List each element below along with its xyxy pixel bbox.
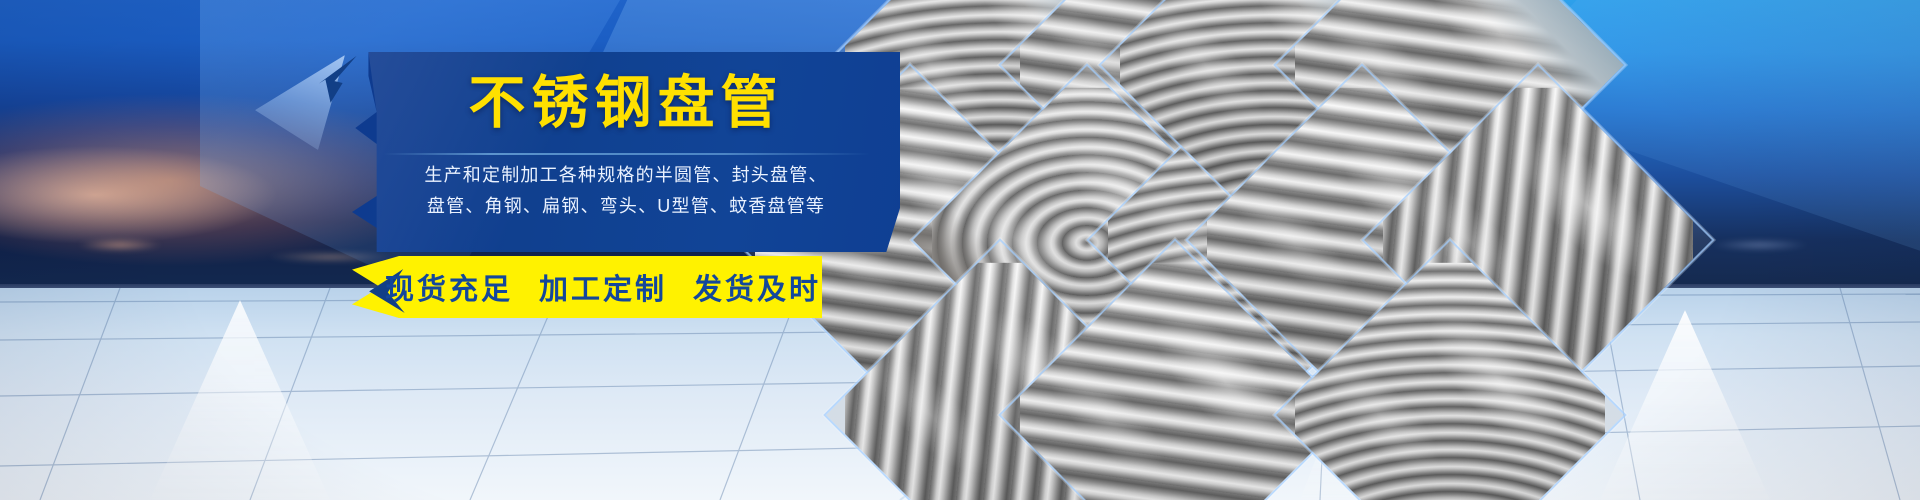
panel-divider [384, 153, 870, 155]
feature-list: 现货充足 加工定制 发货及时 [396, 256, 810, 318]
feature-item: 加工定制 [539, 266, 667, 308]
banner-subtitle-line-1: 生产和定制加工各种规格的半圆管、封头盘管、 [352, 160, 900, 191]
feature-item: 现货充足 [385, 266, 513, 308]
headline-panel: 不锈钢盘管 生产和定制加工各种规格的半圆管、封头盘管、 盘管、角钢、扁钢、弯头、… [352, 52, 900, 252]
feature-ribbon: 现货充足 加工定制 发货及时 [352, 256, 822, 318]
feature-item: 发货及时 [693, 266, 821, 308]
banner-title: 不锈钢盘管 [352, 66, 900, 140]
hero-banner: 不锈钢盘管 生产和定制加工各种规格的半圆管、封头盘管、 盘管、角钢、扁钢、弯头、… [0, 0, 1920, 500]
product-diamond-grid-right [1115, 0, 1535, 410]
banner-subtitle-line-2: 盘管、角钢、扁钢、弯头、U型管、蚊香盘管等 [352, 191, 900, 222]
